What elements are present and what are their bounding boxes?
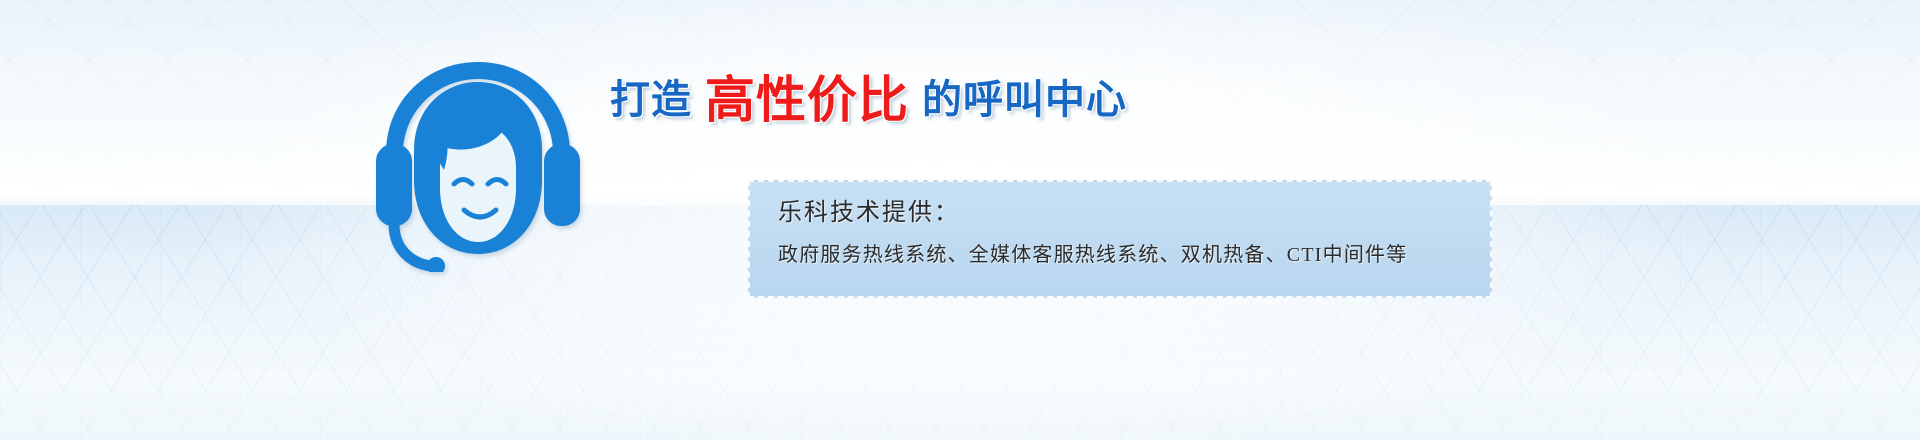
promo-banner: 打造 高性价比 的呼叫中心 乐科技术提供： 政府服务热线系统、全媒体客服热线系统…: [0, 0, 1920, 440]
headline-emphasis: 高性价比: [705, 75, 909, 125]
headset-operator-icon: [372, 58, 584, 272]
headline-trail: 的呼叫中心: [922, 80, 1127, 120]
info-box-description: 政府服务热线系统、全媒体客服热线系统、双机热备、CTI中间件等: [778, 242, 1490, 268]
headline-lead: 打造: [610, 80, 692, 120]
info-box: 乐科技术提供： 政府服务热线系统、全媒体客服热线系统、双机热备、CTI中间件等: [748, 180, 1492, 298]
headline: 打造 高性价比 的呼叫中心: [610, 72, 1127, 128]
info-box-title: 乐科技术提供：: [778, 198, 1490, 228]
